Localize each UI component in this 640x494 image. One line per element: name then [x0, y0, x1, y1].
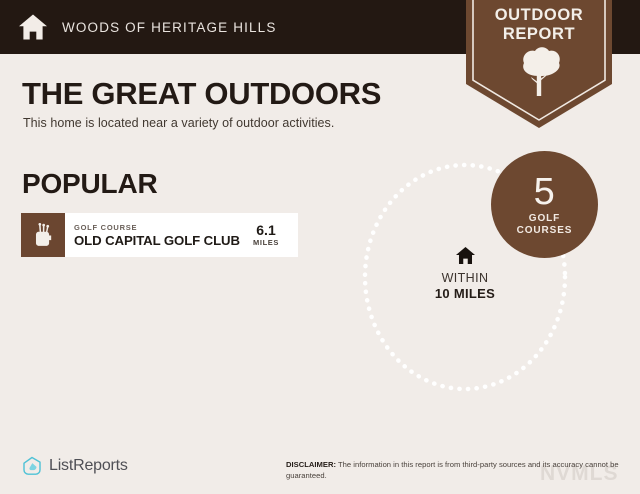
home-icon [455, 246, 476, 265]
poi-icon-container [21, 213, 65, 257]
golf-bag-icon [33, 223, 54, 247]
page-title: THE GREAT OUTDOORS [22, 76, 381, 112]
poi-card[interactable]: GOLF COURSE OLD CAPITAL GOLF CLUB 6.1 MI… [21, 213, 298, 257]
disclaimer: DISCLAIMER: The information in this repo… [286, 460, 626, 481]
listreports-house-tag-icon [22, 456, 42, 476]
poi-distance: 6.1 MILES [240, 213, 298, 257]
golf-courses-count-badge: 5 GOLF COURSES [491, 151, 598, 258]
poi-text-container: GOLF COURSE OLD CAPITAL GOLF CLUB [65, 213, 240, 257]
count-label: GOLF COURSES [517, 213, 573, 237]
poi-distance-unit: MILES [253, 238, 279, 248]
section-title-popular: POPULAR [22, 168, 158, 200]
poi-distance-value: 6.1 [256, 223, 275, 238]
home-icon [18, 13, 48, 41]
outdoor-report-page: WOODS OF HERITAGE HILLS OUTDOOR REPORT T… [0, 0, 640, 494]
page-subtitle: This home is located near a variety of o… [23, 116, 334, 130]
listreports-logo[interactable]: ListReports [22, 456, 128, 476]
disclaimer-label: DISCLAIMER: [286, 460, 336, 469]
count-label-line-2: COURSES [517, 225, 573, 237]
radius-center-label: WITHIN 10 MILES [405, 246, 525, 302]
disclaimer-text: The information in this report is from t… [286, 460, 619, 480]
badge-shape [466, 0, 612, 132]
outdoor-report-badge: OUTDOOR REPORT [466, 0, 612, 132]
radius-within-label: WITHIN [405, 271, 525, 286]
poi-name: OLD CAPITAL GOLF CLUB [74, 233, 240, 248]
radius-distance-label: 10 MILES [405, 286, 525, 302]
listreports-logo-text: ListReports [49, 457, 128, 475]
poi-category: GOLF COURSE [74, 223, 240, 233]
count-label-line-1: GOLF [517, 213, 573, 225]
count-value: 5 [534, 173, 556, 211]
property-name: WOODS OF HERITAGE HILLS [62, 20, 276, 35]
